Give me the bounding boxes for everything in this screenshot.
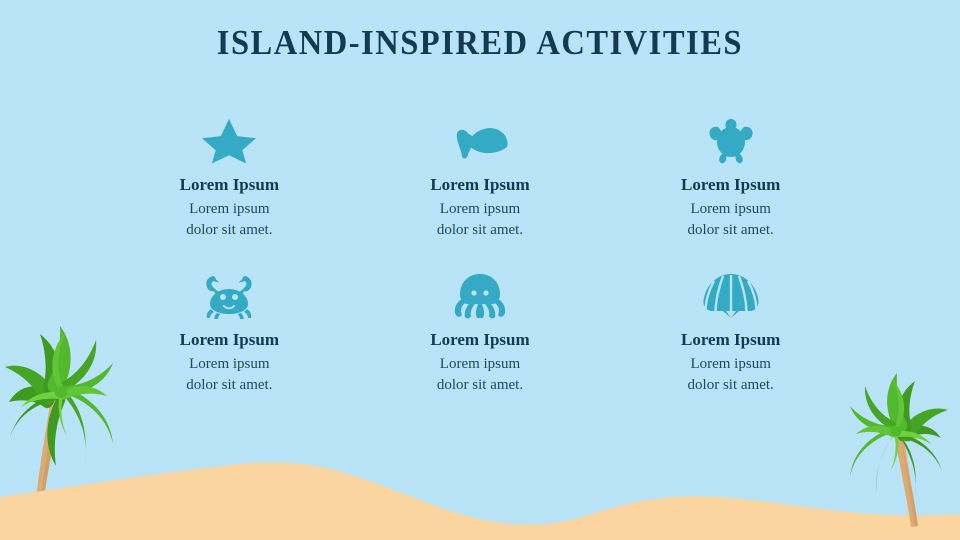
activity-card-body-line-1: Lorem ipsum [688, 354, 774, 375]
activity-card-body-line-1: Lorem ipsum [186, 354, 272, 375]
sand-dune-shape [0, 462, 960, 540]
crab-icon [202, 273, 256, 319]
activity-card-5[interactable]: Lorem Ipsum Lorem ipsum dolor sit amet. [355, 273, 606, 428]
activity-card-2[interactable]: Lorem Ipsum Lorem ipsum dolor sit amet. [355, 118, 606, 273]
activity-card-4[interactable]: Lorem Ipsum Lorem ipsum dolor sit amet. [104, 273, 355, 428]
activity-card-body-line-2: dolor sit amet. [688, 375, 774, 396]
fish-icon [448, 118, 512, 164]
activity-card-6[interactable]: Lorem Ipsum Lorem ipsum dolor sit amet. [605, 273, 856, 428]
activity-card-title: Lorem Ipsum [430, 329, 529, 350]
activity-card-body: Lorem ipsum dolor sit amet. [186, 354, 272, 396]
octopus-icon [453, 273, 507, 319]
page-title: ISLAND-INSPIRED ACTIVITIES [0, 22, 960, 64]
palm-tree-right-icon [850, 373, 948, 527]
turtle-icon [707, 118, 755, 164]
activity-card-body-line-1: Lorem ipsum [186, 199, 272, 220]
activity-card-body-line-2: dolor sit amet. [437, 220, 523, 241]
activity-card-body: Lorem ipsum dolor sit amet. [688, 199, 774, 241]
activity-card-title: Lorem Ipsum [681, 329, 780, 350]
activity-card-1[interactable]: Lorem Ipsum Lorem ipsum dolor sit amet. [104, 118, 355, 273]
activity-card-title: Lorem Ipsum [430, 174, 529, 195]
activity-card-body-line-1: Lorem ipsum [437, 199, 523, 220]
activity-card-body-line-2: dolor sit amet. [688, 220, 774, 241]
activity-card-body-line-2: dolor sit amet. [437, 375, 523, 396]
activity-card-title: Lorem Ipsum [180, 329, 279, 350]
activity-card-3[interactable]: Lorem Ipsum Lorem ipsum dolor sit amet. [605, 118, 856, 273]
palm-tree-left-icon [5, 326, 113, 499]
activity-card-body-line-2: dolor sit amet. [186, 375, 272, 396]
activity-card-body-line-1: Lorem ipsum [688, 199, 774, 220]
activity-card-body-line-1: Lorem ipsum [437, 354, 523, 375]
activity-card-body-line-2: dolor sit amet. [186, 220, 272, 241]
activity-card-body: Lorem ipsum dolor sit amet. [186, 199, 272, 241]
activity-card-body: Lorem ipsum dolor sit amet. [437, 199, 523, 241]
activity-card-body: Lorem ipsum dolor sit amet. [437, 354, 523, 396]
activities-grid: Lorem Ipsum Lorem ipsum dolor sit amet. … [104, 118, 856, 428]
seashell-icon [702, 273, 760, 319]
activity-card-title: Lorem Ipsum [681, 174, 780, 195]
starfish-icon [199, 118, 259, 164]
page-title-text: ISLAND-INSPIRED ACTIVITIES [217, 22, 743, 64]
activity-card-title: Lorem Ipsum [180, 174, 279, 195]
slide-canvas: ISLAND-INSPIRED ACTIVITIES Lorem Ipsum L… [0, 0, 960, 540]
activity-card-body: Lorem ipsum dolor sit amet. [688, 354, 774, 396]
